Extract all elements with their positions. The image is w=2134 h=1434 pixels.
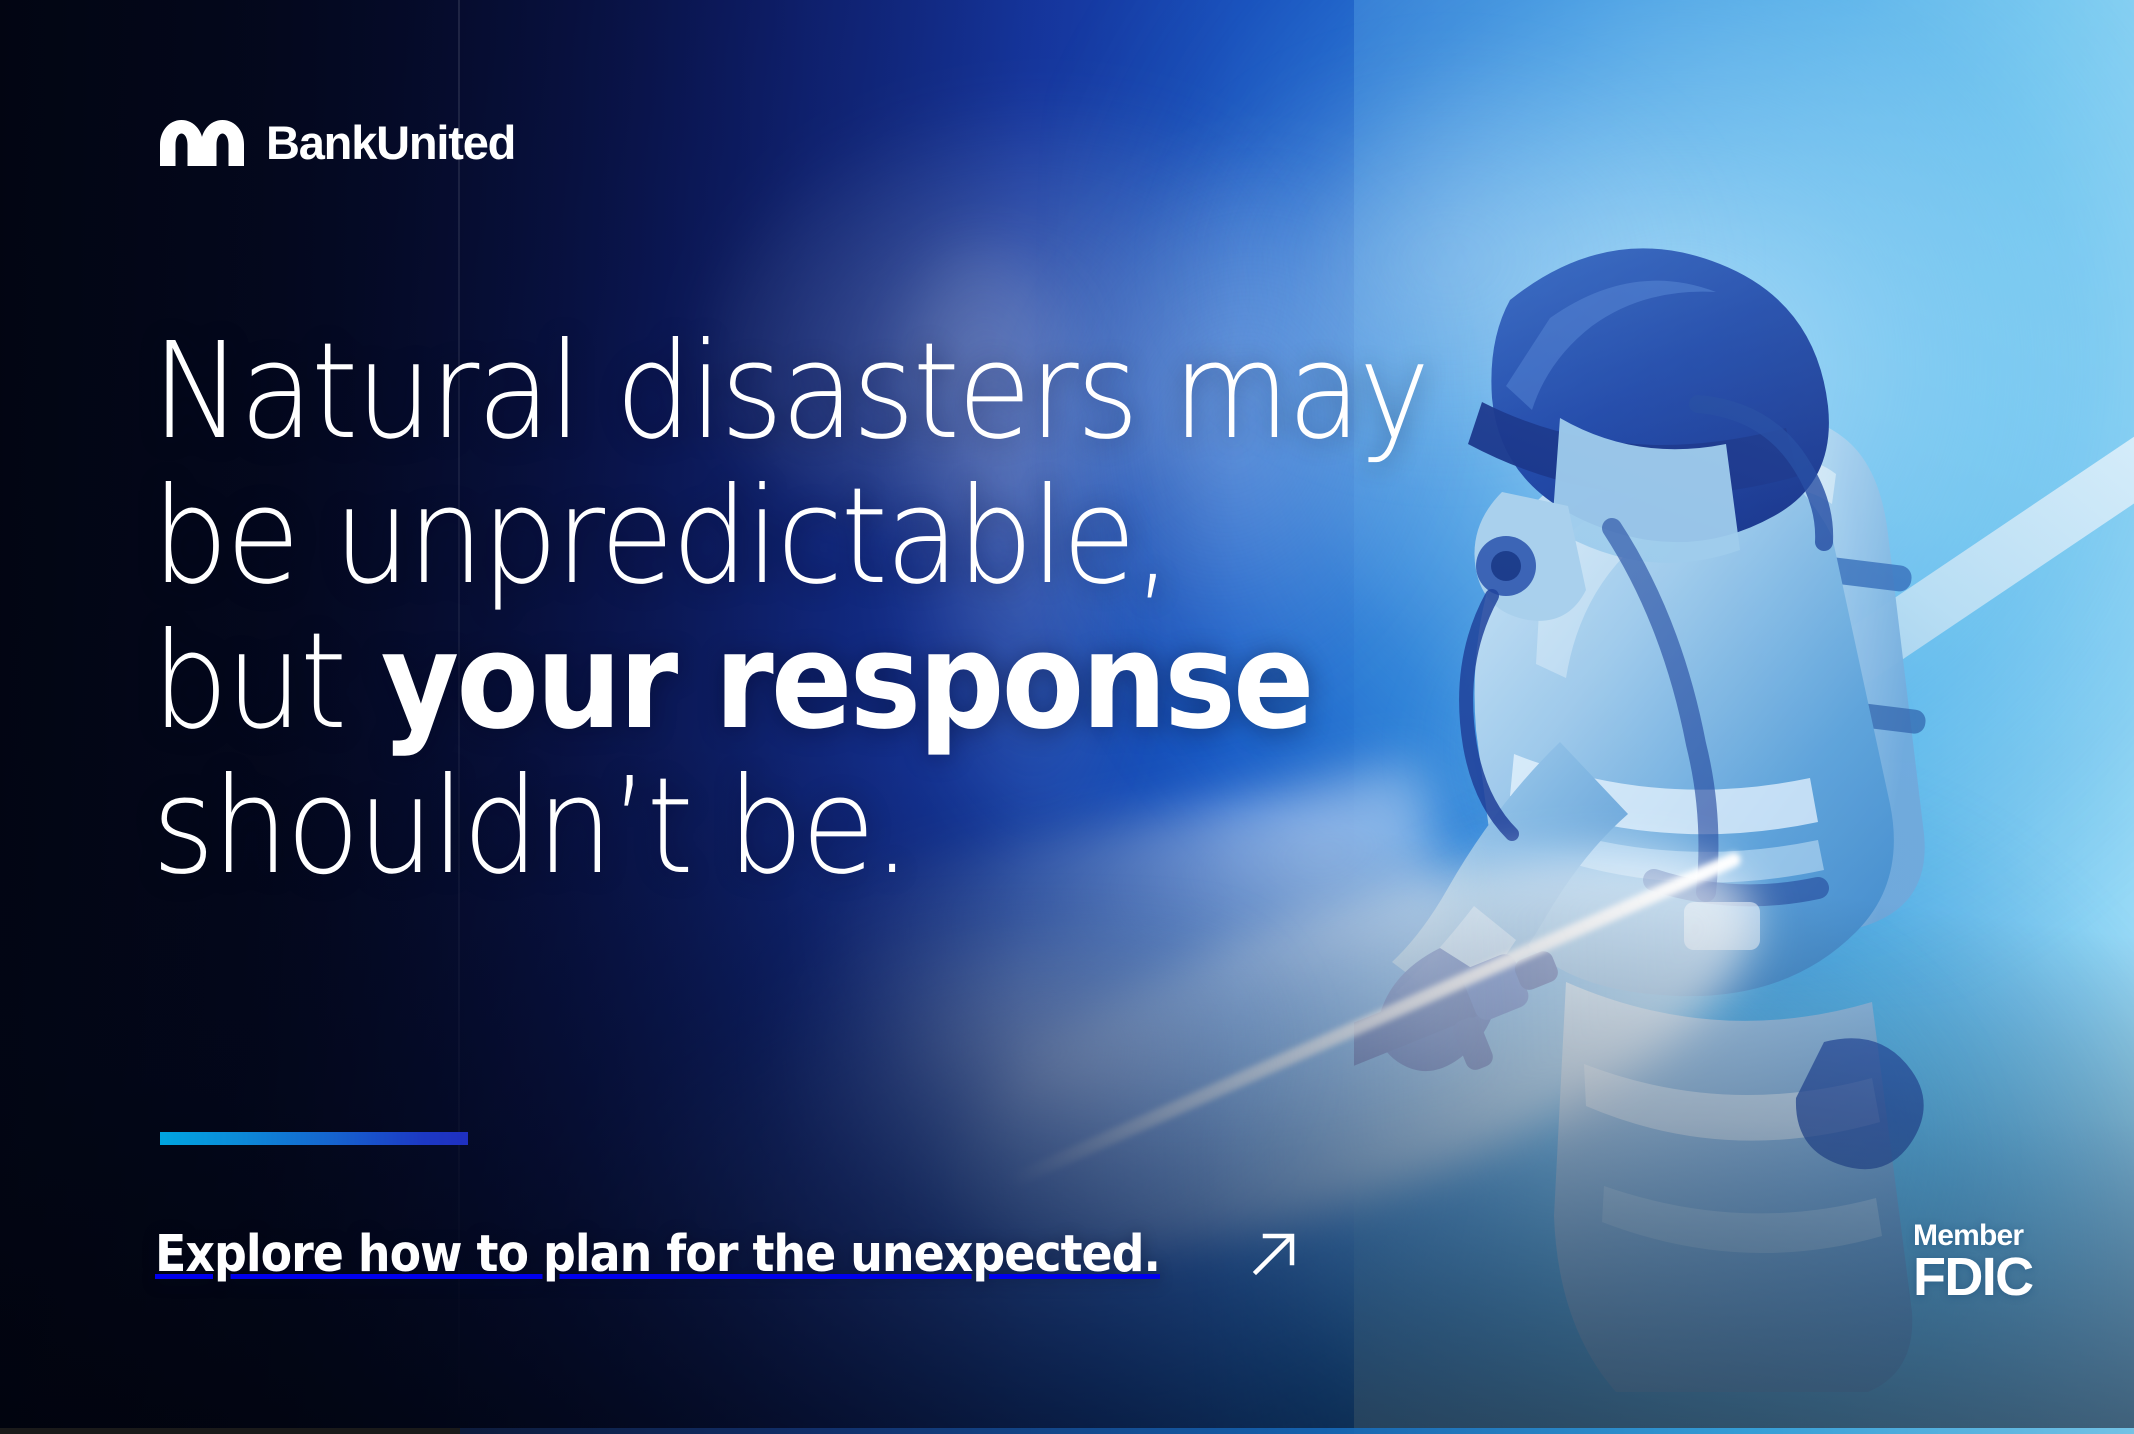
headline-line-2: be unpredictable,	[152, 465, 1437, 610]
arrow-up-right-icon	[1248, 1228, 1300, 1280]
accent-rule	[160, 1132, 468, 1145]
page-title: Natural disasters may be unpredictable, …	[152, 320, 1437, 900]
banner-root: BankUnited Natural disasters may be unpr…	[0, 0, 2134, 1434]
headline-line-3: but your response	[152, 610, 1437, 755]
cta-link[interactable]: Explore how to plan for the unexpected.	[155, 1228, 1300, 1280]
headline-line-4: shouldn’t be.	[152, 755, 1437, 900]
member-fdic-mark: Member FDIC	[1913, 1222, 2033, 1303]
bankunited-logo[interactable]: BankUnited	[158, 118, 515, 166]
headline-line-3-prefix: but	[152, 605, 381, 759]
headline-emphasis: your response	[381, 605, 1312, 759]
logo-wordmark: BankUnited	[266, 119, 515, 166]
bottom-edge-band-left	[0, 1428, 460, 1434]
cta-label: Explore how to plan for the unexpected.	[155, 1229, 1160, 1280]
bankunited-double-arch-icon	[158, 118, 246, 166]
fdic-abbr-label: FDIC	[1913, 1252, 2033, 1303]
headline-line-1: Natural disasters may	[152, 320, 1437, 465]
